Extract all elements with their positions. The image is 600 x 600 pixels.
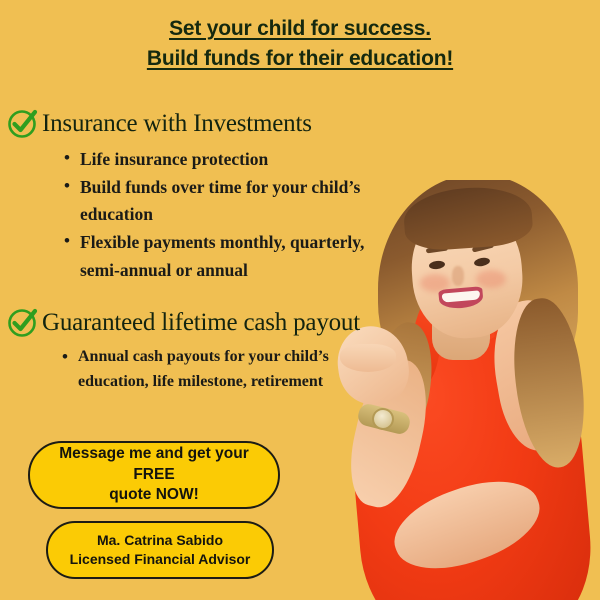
benefit-list: Annual cash payouts for your child’s edu… bbox=[6, 345, 376, 395]
neck bbox=[432, 300, 490, 360]
wristwatch-face-icon bbox=[370, 406, 397, 433]
green-check-circle-icon bbox=[6, 106, 40, 140]
cta-line-2: quote NOW! bbox=[109, 485, 199, 506]
eyebrow-right bbox=[472, 242, 495, 252]
hair-fringe bbox=[402, 184, 534, 253]
teeth bbox=[442, 290, 481, 302]
eyebrow-left bbox=[426, 245, 448, 253]
list-item: Life insurance protection bbox=[64, 146, 376, 173]
section-heading-row: Guaranteed lifetime cash payout bbox=[6, 305, 376, 341]
advisor-credential-badge: Ma. Catrina Sabido Licensed Financial Ad… bbox=[46, 521, 274, 579]
eye-right bbox=[473, 257, 490, 268]
dress-strap-right bbox=[489, 293, 537, 397]
shoulder-right bbox=[484, 294, 587, 455]
section-heading-text: Guaranteed lifetime cash payout bbox=[42, 309, 360, 337]
face bbox=[408, 202, 527, 341]
cheek-left bbox=[420, 274, 450, 292]
red-dress bbox=[342, 321, 598, 600]
headline-line-2: Build funds for their education! bbox=[147, 47, 453, 70]
list-item: Annual cash payouts for your child’s edu… bbox=[62, 345, 376, 395]
cheek-right bbox=[476, 270, 506, 288]
wristwatch-band-icon bbox=[356, 402, 412, 436]
message-cta-button[interactable]: Message me and get your FREE quote NOW! bbox=[28, 441, 280, 509]
list-item: Build funds over time for your child’s e… bbox=[64, 174, 376, 228]
advisor-name: Ma. Catrina Sabido bbox=[97, 531, 223, 550]
hair-back bbox=[378, 180, 578, 404]
hair-curl-right bbox=[506, 295, 592, 472]
benefit-section-insurance: Insurance with Investments Life insuranc… bbox=[6, 106, 376, 285]
benefit-section-cash-payout: Guaranteed lifetime cash payout Annual c… bbox=[6, 305, 376, 396]
green-check-circle-icon bbox=[6, 305, 40, 339]
dress-neckline bbox=[420, 285, 506, 345]
nose bbox=[452, 266, 464, 286]
list-item: Flexible payments monthly, quarterly, se… bbox=[64, 229, 376, 283]
dress-strap-left bbox=[403, 293, 451, 387]
section-heading-row: Insurance with Investments bbox=[6, 106, 376, 142]
section-heading-text: Insurance with Investments bbox=[42, 110, 312, 138]
benefit-list: Life insurance protection Build funds ov… bbox=[6, 146, 376, 284]
headline: Set your child for success. Build funds … bbox=[0, 14, 600, 75]
eye-left bbox=[429, 260, 446, 270]
advertisement-flyer: Set your child for success. Build funds … bbox=[0, 0, 600, 600]
headline-line-1: Set your child for success. bbox=[169, 17, 431, 40]
upper-arm bbox=[384, 465, 550, 586]
cta-line-1: Message me and get your FREE bbox=[44, 444, 264, 486]
mouth bbox=[438, 286, 484, 310]
advisor-title: Licensed Financial Advisor bbox=[70, 550, 251, 569]
